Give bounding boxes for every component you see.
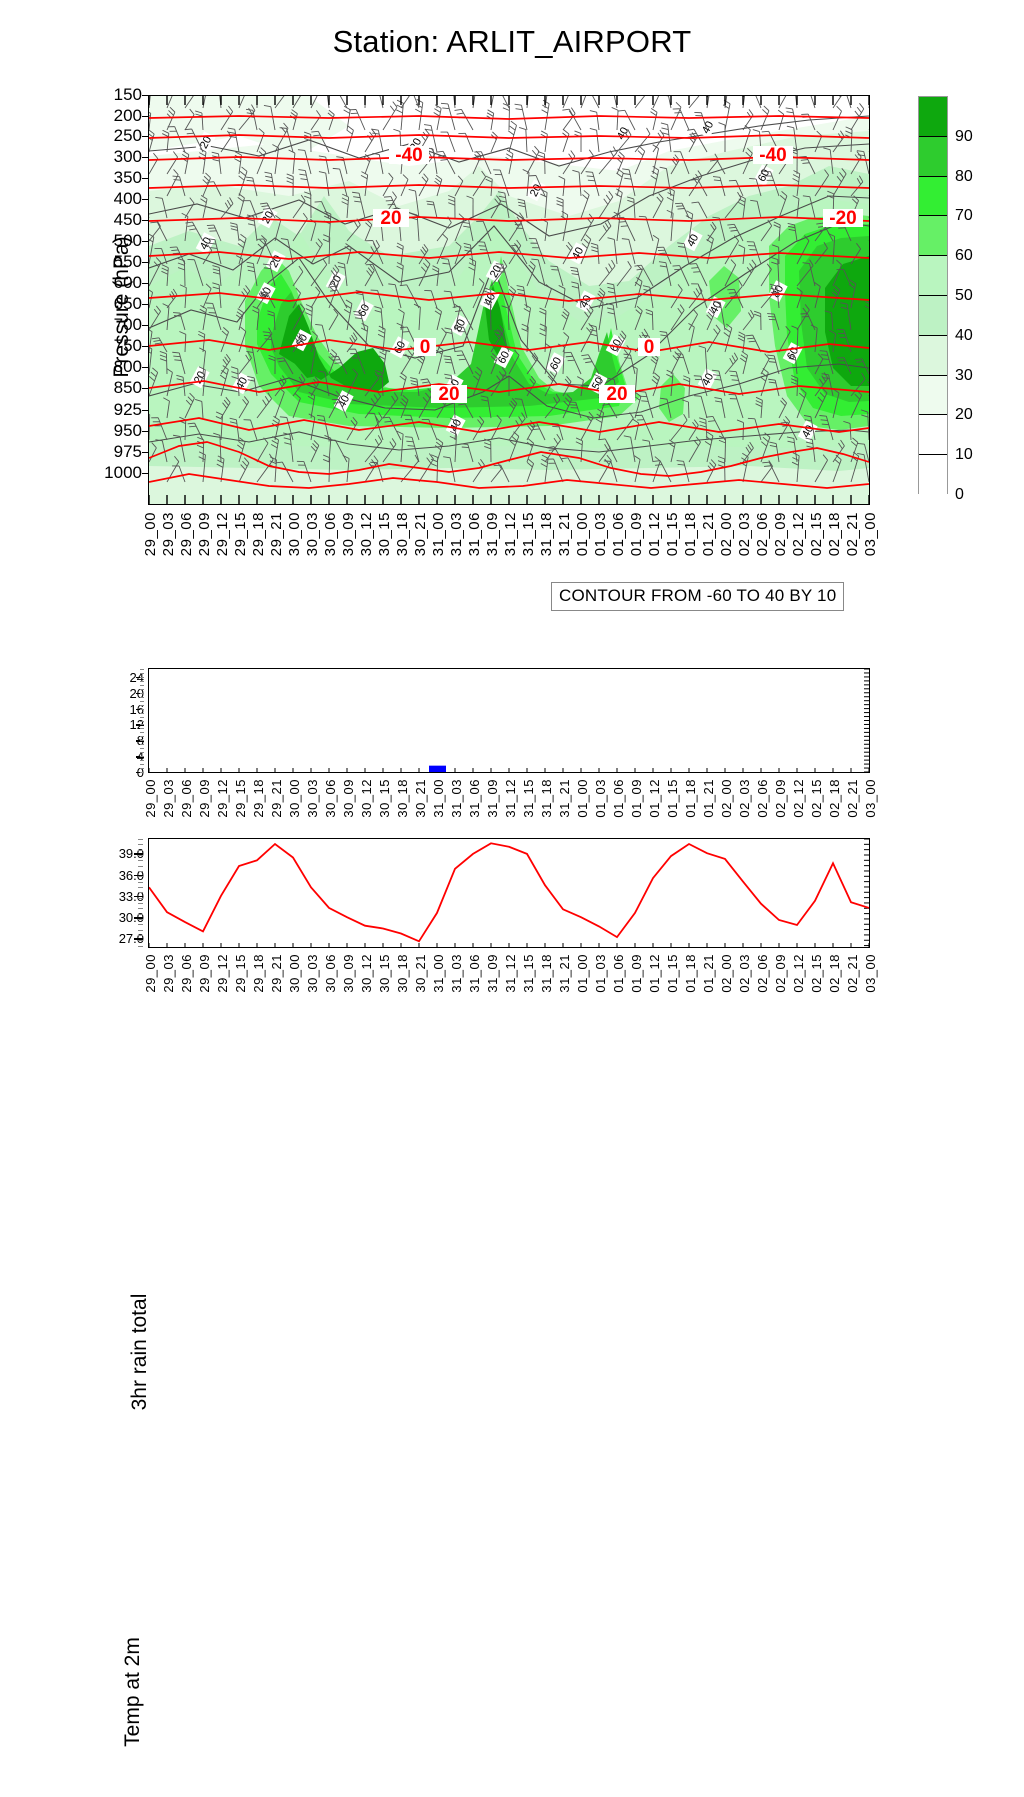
temp-y-minor-tick — [138, 940, 143, 941]
temp-y-minor-tick — [138, 935, 143, 936]
time-height-cross-section-plot[interactable]: 20 20 40 40 20 20 60 20 20 40 40 40 20 4… — [148, 95, 870, 505]
x-tick-label: 02_15 — [809, 954, 824, 993]
x-tick-label: 02_21 — [844, 512, 861, 556]
rain-y-minor-tick — [140, 732, 144, 733]
colorbar-band — [919, 97, 947, 137]
x-tick-label: 30_09 — [341, 779, 356, 818]
x-tick-label: 02_12 — [791, 779, 806, 818]
x-tick-label: 29_18 — [250, 512, 267, 556]
main-y-tick-label: 700 — [84, 316, 142, 333]
temp-plot-x-axis: 29_0029_0329_0629_0929_1229_1529_1829_21… — [148, 954, 870, 1014]
temp-y-minor-tick — [138, 839, 143, 840]
x-tick-label: 30_03 — [305, 779, 320, 818]
main-y-tick-label: 925 — [84, 401, 142, 418]
x-tick-label: 01_15 — [665, 779, 680, 818]
x-tick-label: 31_15 — [521, 779, 536, 818]
x-tick-label: 01_00 — [574, 512, 591, 556]
main-y-tick-label: 500 — [84, 232, 142, 249]
main-y-tick-label: 350 — [84, 169, 142, 186]
x-tick-label: 29_15 — [233, 954, 248, 993]
rain-y-minor-tick — [140, 701, 144, 702]
x-tick-label: 02_18 — [827, 779, 842, 818]
x-tick-label: 30_15 — [377, 779, 392, 818]
x-tick-label: 29_15 — [232, 512, 249, 556]
temp-y-minor-tick — [138, 866, 143, 867]
x-tick-label: 29_18 — [251, 954, 266, 993]
x-tick-label: 29_03 — [161, 779, 176, 818]
x-tick-label: 02_15 — [808, 512, 825, 556]
rain-y-minor-tick — [140, 673, 144, 674]
x-tick-label: 01_12 — [646, 512, 663, 556]
x-tick-label: 30_18 — [395, 954, 410, 993]
x-tick-label: 31_03 — [448, 512, 465, 556]
rain-y-minor-tick — [140, 693, 144, 694]
x-tick-label: 29_21 — [268, 512, 285, 556]
x-tick-label: 01_06 — [610, 512, 627, 556]
main-plot-canvas: 20 20 40 40 20 20 60 20 20 40 40 40 20 4… — [149, 96, 869, 504]
main-y-tick-label: 650 — [84, 295, 142, 312]
main-y-tick-label: 200 — [84, 107, 142, 124]
main-y-tick-label: 450 — [84, 211, 142, 228]
colorbar-tick-label: 90 — [955, 128, 973, 146]
x-tick-label: 01_00 — [575, 954, 590, 993]
temp-y-minor-tick — [138, 887, 143, 888]
x-tick-label: 29_21 — [269, 779, 284, 818]
rain-y-minor-tick — [140, 768, 144, 769]
x-tick-label: 30_00 — [286, 512, 303, 556]
rain-y-minor-tick — [140, 709, 144, 710]
rain-plot-canvas — [149, 669, 869, 772]
main-y-tick-label: 300 — [84, 148, 142, 165]
rain-y-minor-tick — [140, 736, 144, 737]
x-tick-label: 01_03 — [593, 779, 608, 818]
x-tick-label: 02_06 — [755, 954, 770, 993]
x-tick-label: 02_21 — [845, 954, 860, 993]
temp-y-minor-tick — [138, 914, 143, 915]
x-tick-label: 02_03 — [737, 954, 752, 993]
colorbar-band — [919, 256, 947, 296]
main-y-tick-label: 850 — [84, 379, 142, 396]
svg-text:-40: -40 — [759, 145, 786, 166]
x-tick-label: 01_12 — [647, 779, 662, 818]
main-y-tick-label: 1000 — [84, 464, 142, 481]
main-y-tick-label: 550 — [84, 253, 142, 270]
x-tick-label: 01_18 — [683, 779, 698, 818]
x-tick-label: 31_00 — [431, 779, 446, 818]
x-tick-label: 31_12 — [503, 954, 518, 993]
colorbar-tick-label: 50 — [955, 287, 973, 305]
svg-text:20: 20 — [380, 208, 401, 229]
x-tick-label: 01_00 — [575, 779, 590, 818]
rain-y-minor-tick — [140, 724, 144, 725]
main-y-tick-label: 800 — [84, 358, 142, 375]
x-tick-label: 31_21 — [557, 779, 572, 818]
svg-text:-20: -20 — [829, 208, 856, 229]
x-tick-label: 31_00 — [431, 954, 446, 993]
x-tick-label: 30_12 — [358, 512, 375, 556]
temp-y-minor-tick — [138, 908, 143, 909]
x-tick-label: 02_15 — [809, 779, 824, 818]
x-tick-label: 02_12 — [790, 512, 807, 556]
rain-y-minor-tick — [140, 728, 144, 729]
main-y-tick-label: 600 — [84, 274, 142, 291]
x-tick-label: 31_21 — [556, 512, 573, 556]
x-tick-label: 29_06 — [178, 512, 195, 556]
x-tick-label: 29_09 — [196, 512, 213, 556]
x-tick-label: 31_09 — [485, 954, 500, 993]
x-tick-label: 03_00 — [862, 512, 879, 556]
x-tick-label: 01_09 — [629, 954, 644, 993]
temp-y-minor-tick — [138, 898, 143, 899]
colorbar-tick-label: 0 — [955, 486, 964, 504]
rain-plot-y-axis-label: 3hr rain total — [128, 1252, 152, 1452]
x-tick-label: 01_21 — [701, 954, 716, 993]
x-tick-label: 30_09 — [340, 512, 357, 556]
colorbar-tick-label: 70 — [955, 207, 973, 225]
x-tick-label: 01_12 — [647, 954, 662, 993]
x-tick-label: 01_06 — [611, 954, 626, 993]
main-y-tick-label: 750 — [84, 337, 142, 354]
x-tick-label: 29_00 — [143, 779, 158, 818]
x-tick-label: 02_06 — [755, 779, 770, 818]
x-tick-label: 31_06 — [467, 954, 482, 993]
x-tick-label: 31_18 — [539, 954, 554, 993]
colorbar-band — [919, 216, 947, 256]
rain-y-minor-tick — [140, 740, 144, 741]
rain-y-minor-tick — [140, 756, 144, 757]
x-tick-label: 29_15 — [233, 779, 248, 818]
temp-line — [149, 843, 869, 941]
rain-y-minor-tick — [140, 772, 144, 773]
x-tick-label: 02_18 — [826, 512, 843, 556]
rain-y-minor-tick — [140, 717, 144, 718]
x-tick-label: 30_15 — [376, 512, 393, 556]
x-tick-label: 30_15 — [377, 954, 392, 993]
x-tick-label: 29_00 — [143, 954, 158, 993]
rain-y-minor-tick — [140, 669, 144, 670]
x-tick-label: 02_06 — [754, 512, 771, 556]
x-tick-label: 29_12 — [214, 512, 231, 556]
rain-y-minor-tick — [140, 764, 144, 765]
temp-y-minor-tick — [138, 903, 143, 904]
x-tick-label: 01_06 — [611, 779, 626, 818]
x-tick-label: 02_18 — [827, 954, 842, 993]
x-tick-label: 02_00 — [719, 954, 734, 993]
temp-y-minor-tick — [138, 860, 143, 861]
x-tick-label: 02_00 — [718, 512, 735, 556]
x-tick-label: 02_00 — [719, 779, 734, 818]
x-tick-label: 01_03 — [593, 954, 608, 993]
temp-y-minor-tick — [138, 876, 143, 877]
rain-y-minor-tick — [140, 697, 144, 698]
x-tick-label: 30_18 — [394, 512, 411, 556]
x-tick-label: 01_09 — [629, 779, 644, 818]
rain-y-minor-tick — [140, 752, 144, 753]
rain-y-minor-tick — [140, 713, 144, 714]
x-tick-label: 30_21 — [412, 512, 429, 556]
x-tick-label: 29_21 — [269, 954, 284, 993]
colorbar-band — [919, 137, 947, 177]
main-y-tick-label: 250 — [84, 127, 142, 144]
svg-text:20: 20 — [438, 384, 459, 405]
x-tick-label: 30_06 — [323, 779, 338, 818]
colorbar-tick-label: 10 — [955, 446, 973, 464]
temp-y-minor-tick — [138, 892, 143, 893]
rain-y-minor-tick — [140, 721, 144, 722]
temp-y-minor-tick — [138, 919, 143, 920]
x-tick-label: 30_21 — [413, 954, 428, 993]
x-tick-label: 29_06 — [179, 954, 194, 993]
x-tick-label: 29_03 — [160, 512, 177, 556]
x-tick-label: 02_03 — [737, 779, 752, 818]
x-tick-label: 30_21 — [413, 779, 428, 818]
temp-plot-y-axis-label: Temp at 2m — [121, 1587, 145, 1797]
colorbar-band — [919, 177, 947, 217]
rain-bar — [429, 766, 446, 772]
x-tick-label: 31_15 — [520, 512, 537, 556]
x-tick-label: 31_12 — [502, 512, 519, 556]
x-tick-label: 02_03 — [736, 512, 753, 556]
temp-y-minor-tick — [138, 930, 143, 931]
colorbar-band — [919, 296, 947, 336]
x-tick-label: 31_03 — [449, 779, 464, 818]
colorbar[interactable] — [918, 96, 948, 494]
x-tick-label: 29_06 — [179, 779, 194, 818]
temp-y-minor-tick — [138, 844, 143, 845]
rain-y-minor-tick — [140, 760, 144, 761]
colorbar-tick-label: 30 — [955, 367, 973, 385]
x-tick-label: 29_12 — [215, 954, 230, 993]
x-tick-label: 30_03 — [304, 512, 321, 556]
x-tick-label: 30_06 — [323, 954, 338, 993]
x-tick-label: 30_09 — [341, 954, 356, 993]
x-tick-label: 31_18 — [538, 512, 555, 556]
x-tick-label: 29_00 — [142, 512, 159, 556]
x-tick-label: 31_06 — [467, 779, 482, 818]
temp-y-minor-tick — [138, 871, 143, 872]
x-tick-label: 29_09 — [197, 954, 212, 993]
temp-at-2m-plot[interactable] — [148, 838, 870, 948]
colorbar-band — [919, 455, 947, 495]
main-plot-y-axis: Pressure (hPa) 1502002503003504004505005… — [80, 95, 142, 507]
x-tick-label: 01_15 — [665, 954, 680, 993]
x-tick-label: 02_09 — [773, 954, 788, 993]
rain-y-minor-tick — [140, 705, 144, 706]
x-tick-label: 29_12 — [215, 779, 230, 818]
x-tick-label: 31_12 — [503, 779, 518, 818]
x-tick-label: 01_18 — [682, 512, 699, 556]
x-tick-label: 30_00 — [287, 779, 302, 818]
x-tick-label: 31_09 — [484, 512, 501, 556]
colorbar-tick-label: 80 — [955, 168, 973, 186]
rain-y-minor-tick — [140, 689, 144, 690]
svg-text:0: 0 — [644, 337, 655, 358]
main-y-tick-label: 400 — [84, 190, 142, 207]
x-tick-label: 03_00 — [863, 779, 878, 818]
rain-y-minor-tick — [140, 744, 144, 745]
x-tick-label: 01_03 — [592, 512, 609, 556]
temp-plot-canvas — [149, 839, 869, 947]
x-tick-label: 31_06 — [466, 512, 483, 556]
colorbar-labels: 9080706050403020100 — [955, 96, 1015, 496]
rain-y-minor-tick — [140, 685, 144, 686]
main-y-tick-label: 975 — [84, 443, 142, 460]
temp-y-minor-tick — [138, 924, 143, 925]
x-tick-label: 30_12 — [359, 779, 374, 818]
rain-plot-x-axis: 29_0029_0329_0629_0929_1229_1529_1829_21… — [148, 779, 870, 839]
x-tick-label: 02_12 — [791, 954, 806, 993]
rain-plot-y-axis: 3hr rain total 04812162024 — [88, 668, 144, 775]
colorbar-tick-label: 40 — [955, 327, 973, 345]
x-tick-label: 02_21 — [845, 779, 860, 818]
main-plot-x-axis: 29_0029_0329_0629_0929_1229_1529_1829_21… — [148, 512, 870, 582]
x-tick-label: 31_15 — [521, 954, 536, 993]
x-tick-label: 01_09 — [628, 512, 645, 556]
x-tick-label: 30_06 — [322, 512, 339, 556]
x-tick-label: 01_21 — [700, 512, 717, 556]
temp-y-minor-tick — [138, 850, 143, 851]
x-tick-label: 29_03 — [161, 954, 176, 993]
colorbar-band — [919, 376, 947, 416]
x-tick-label: 30_03 — [305, 954, 320, 993]
colorbar-band — [919, 336, 947, 376]
svg-text:20: 20 — [606, 384, 627, 405]
temp-y-minor-tick — [138, 946, 143, 947]
colorbar-band — [919, 415, 947, 455]
x-tick-label: 01_18 — [683, 954, 698, 993]
x-tick-label: 01_21 — [701, 779, 716, 818]
rain-y-minor-tick — [140, 677, 144, 678]
colorbar-tick-label: 20 — [955, 406, 973, 424]
page-title: Station: ARLIT_AIRPORT — [0, 24, 1024, 60]
x-tick-label: 29_09 — [197, 779, 212, 818]
x-tick-label: 03_00 — [863, 954, 878, 993]
rain-total-plot[interactable] — [148, 668, 870, 773]
main-y-tick-label: 950 — [84, 422, 142, 439]
x-tick-label: 02_09 — [773, 779, 788, 818]
x-tick-label: 29_18 — [251, 779, 266, 818]
temp-plot-y-axis: Temp at 2m 27.030.033.036.039.0 — [78, 838, 144, 950]
x-tick-label: 31_00 — [430, 512, 447, 556]
svg-text:0: 0 — [420, 337, 431, 358]
x-tick-label: 01_15 — [664, 512, 681, 556]
x-tick-label: 30_12 — [359, 954, 374, 993]
temp-y-minor-tick — [138, 882, 143, 883]
x-tick-label: 31_18 — [539, 779, 554, 818]
x-tick-label: 31_03 — [449, 954, 464, 993]
colorbar-tick-label: 60 — [955, 247, 973, 265]
svg-text:-40: -40 — [395, 145, 422, 166]
x-tick-label: 31_21 — [557, 954, 572, 993]
x-tick-label: 31_09 — [485, 779, 500, 818]
rain-y-minor-tick — [140, 681, 144, 682]
x-tick-label: 30_18 — [395, 779, 410, 818]
contour-range-note: CONTOUR FROM -60 TO 40 BY 10 — [551, 582, 844, 611]
x-tick-label: 02_09 — [772, 512, 789, 556]
temp-y-minor-tick — [138, 855, 143, 856]
main-y-tick-label: 150 — [84, 86, 142, 103]
rain-y-minor-tick — [140, 748, 144, 749]
x-tick-label: 30_00 — [287, 954, 302, 993]
